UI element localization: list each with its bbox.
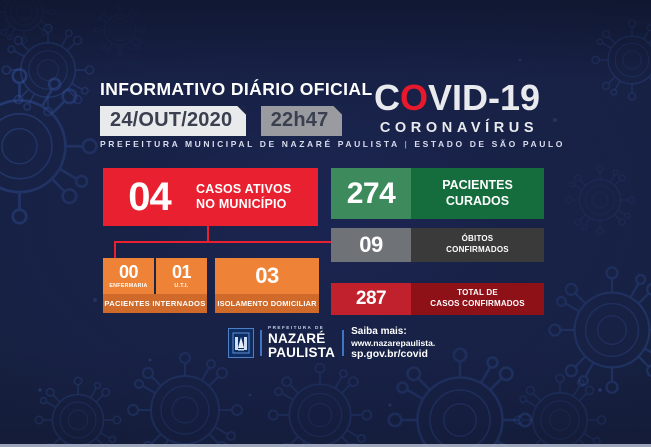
enfermaria-value: 00 [119,263,138,281]
connector-vertical-top [207,226,209,242]
cured-label-line1: PACIENTES [411,178,544,193]
total-label-line1: TOTAL DE [411,288,544,299]
fold-corner-icon [333,106,342,115]
footer-divider [260,330,262,356]
time-badge-text: 22h47 [271,109,329,131]
covid-logo-subtitle: CORONAVÍRUS [362,120,552,136]
uti-value: 01 [172,263,191,281]
covid-logo-main: COVID-19 [362,80,552,116]
website-info[interactable]: Saiba mais: www.nazarepaulista. sp.gov.b… [351,326,435,360]
total-label-line2: CASOS CONFIRMADOS [411,299,544,310]
covid-logo-c: C [374,77,400,118]
connector-leg-left [114,241,116,258]
covid-logo-o: O [400,77,428,118]
covid-logo: COVID-19 CORONAVÍRUS [362,80,552,136]
fold-corner-icon [237,106,246,115]
crest-shield-svg [232,332,250,354]
isolamento-value: 03 [255,265,278,287]
active-cases-label-line2: NO MUNICÍPIO [196,197,291,212]
active-cases-value: 04 [103,177,196,217]
page-title: INFORMATIVO DIÁRIO OFICIAL [100,79,373,100]
internados-footer-label: PACIENTES INTERNADOS [103,294,207,313]
date-badge-text: 24/OUT/2020 [110,109,232,131]
cured-label: PACIENTES CURADOS [411,178,544,209]
active-cases-card: 04 CASOS ATIVOS NO MUNICÍPIO [103,168,318,226]
municipality-text: PREFEITURA MUNICIPAL DE NAZARÉ PAULISTA [100,139,399,149]
enfermaria-cell: 00 ENFERMARIA [103,258,156,294]
internados-card: 00 ENFERMARIA 01 U.T.I. [103,258,207,294]
enfermaria-label: ENFERMARIA [109,283,147,289]
cured-value: 274 [331,168,411,219]
poster-content: INFORMATIVO DIÁRIO OFICIAL 24/OUT/2020 2… [0,0,651,447]
active-cases-label: CASOS ATIVOS NO MUNICÍPIO [196,182,291,213]
deaths-card: 09 ÓBITOS CONFIRMADOS [331,228,544,262]
footer-divider-2 [342,330,344,356]
breadcrumb: PREFEITURA MUNICIPAL DE NAZARÉ PAULISTA … [100,139,565,149]
isolamento-card: 03 [215,258,319,294]
website-url-line2: sp.gov.br/covid [351,348,435,360]
saiba-mais-label: Saiba mais: [351,326,435,338]
deaths-label-line1: ÓBITOS [411,234,544,245]
subtitle-separator: | [404,139,409,149]
active-cases-label-line1: CASOS ATIVOS [196,182,291,197]
state-text: ESTADO DE SÃO PAULO [414,139,565,149]
time-badge: 22h47 [261,106,343,136]
deaths-value: 09 [331,228,411,262]
city-name-line1: NAZARÉ [268,332,335,346]
uti-cell: 01 U.T.I. [156,258,207,294]
covid-logo-rest: VID-19 [428,77,540,118]
total-confirmed-card: 287 TOTAL DE CASOS CONFIRMADOS [331,283,544,315]
total-label: TOTAL DE CASOS CONFIRMADOS [411,288,544,310]
city-brand: PREFEITURA DE NAZARÉ PAULISTA [268,326,335,360]
covid-daily-report-poster: INFORMATIVO DIÁRIO OFICIAL 24/OUT/2020 2… [0,0,651,447]
cured-label-line2: CURADOS [411,194,544,209]
city-name-line2: PAULISTA [268,346,335,360]
isolamento-footer-label: ISOLAMENTO DOMICILIAR [215,294,319,313]
footer-bar: PREFEITURA DE NAZARÉ PAULISTA Saiba mais… [228,327,435,359]
datetime-badges: 24/OUT/2020 22h47 [100,106,352,136]
uti-label: U.T.I. [174,283,188,289]
breakdown-cards: 00 ENFERMARIA 01 U.T.I. PACIENTES INTERN… [103,258,319,313]
deaths-label-line2: CONFIRMADOS [411,245,544,256]
city-crest-icon [228,328,254,358]
cured-patients-card: 274 PACIENTES CURADOS [331,168,544,219]
prefeitura-label: PREFEITURA DE [268,326,335,331]
total-value: 287 [331,283,411,315]
date-badge: 24/OUT/2020 [100,106,246,136]
deaths-label: ÓBITOS CONFIRMADOS [411,234,544,256]
breakdown-connector [103,226,318,258]
connector-horizontal [114,241,346,243]
website-url-line1: www.nazarepaulista. [351,338,435,348]
